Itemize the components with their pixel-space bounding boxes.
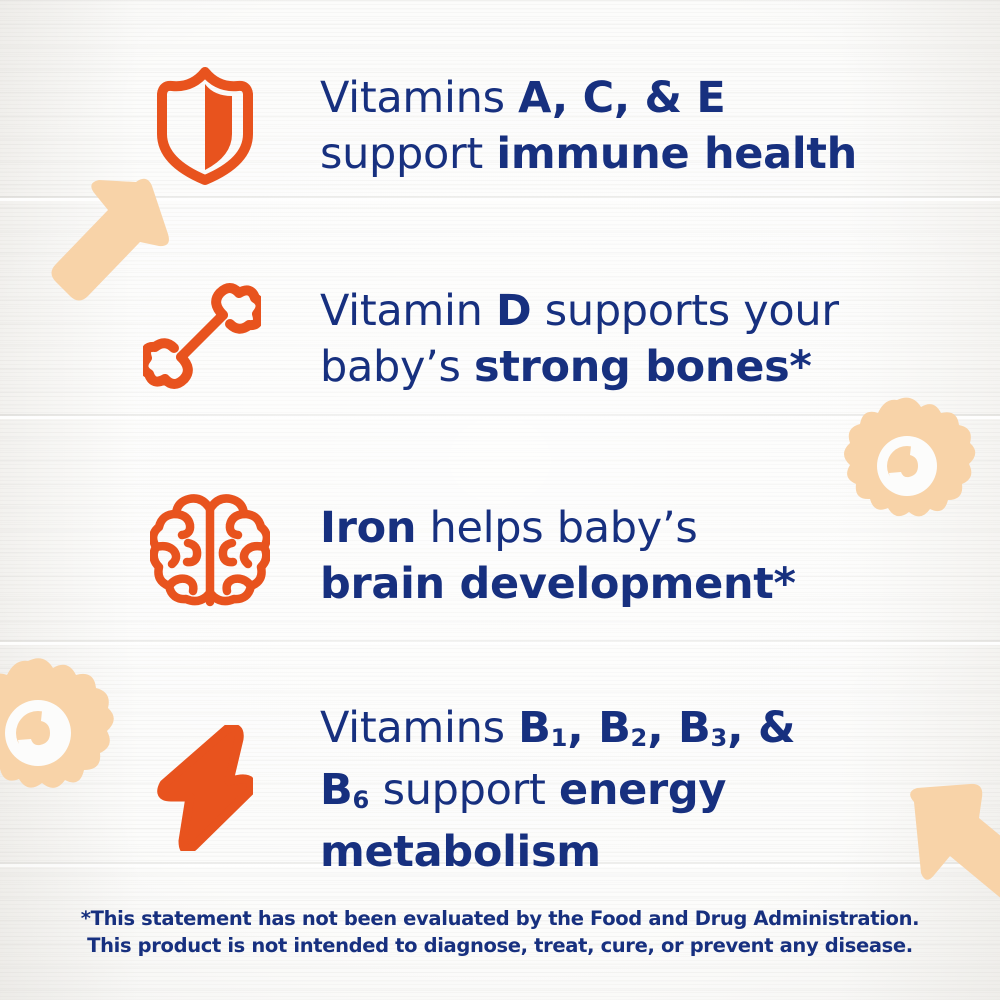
- benefit-text-brain: Iron helps baby’sbrain development*: [320, 500, 920, 612]
- benefit-text-energy: Vitamins B1, B2, B3, &B6 support energym…: [320, 700, 920, 880]
- brain-icon: [150, 489, 270, 607]
- benefit-text-bones: Vitamin D supports yourbaby’s strong bon…: [320, 283, 920, 395]
- disclaimer-line-1: *This statement has not been evaluated b…: [0, 905, 1000, 932]
- lightning-bolt-icon: [157, 725, 253, 851]
- disclaimer: *This statement has not been evaluated b…: [0, 905, 1000, 959]
- benefit-rows: Vitamins A, C, & Esupport immune health …: [0, 0, 1000, 1000]
- benefit-text-immune: Vitamins A, C, & Esupport immune health: [320, 70, 920, 182]
- shield-icon: [152, 62, 258, 188]
- bone-icon: [143, 277, 261, 395]
- disclaimer-line-2: This product is not intended to diagnose…: [0, 932, 1000, 959]
- benefits-poster: Vitamins A, C, & Esupport immune health …: [0, 0, 1000, 1000]
